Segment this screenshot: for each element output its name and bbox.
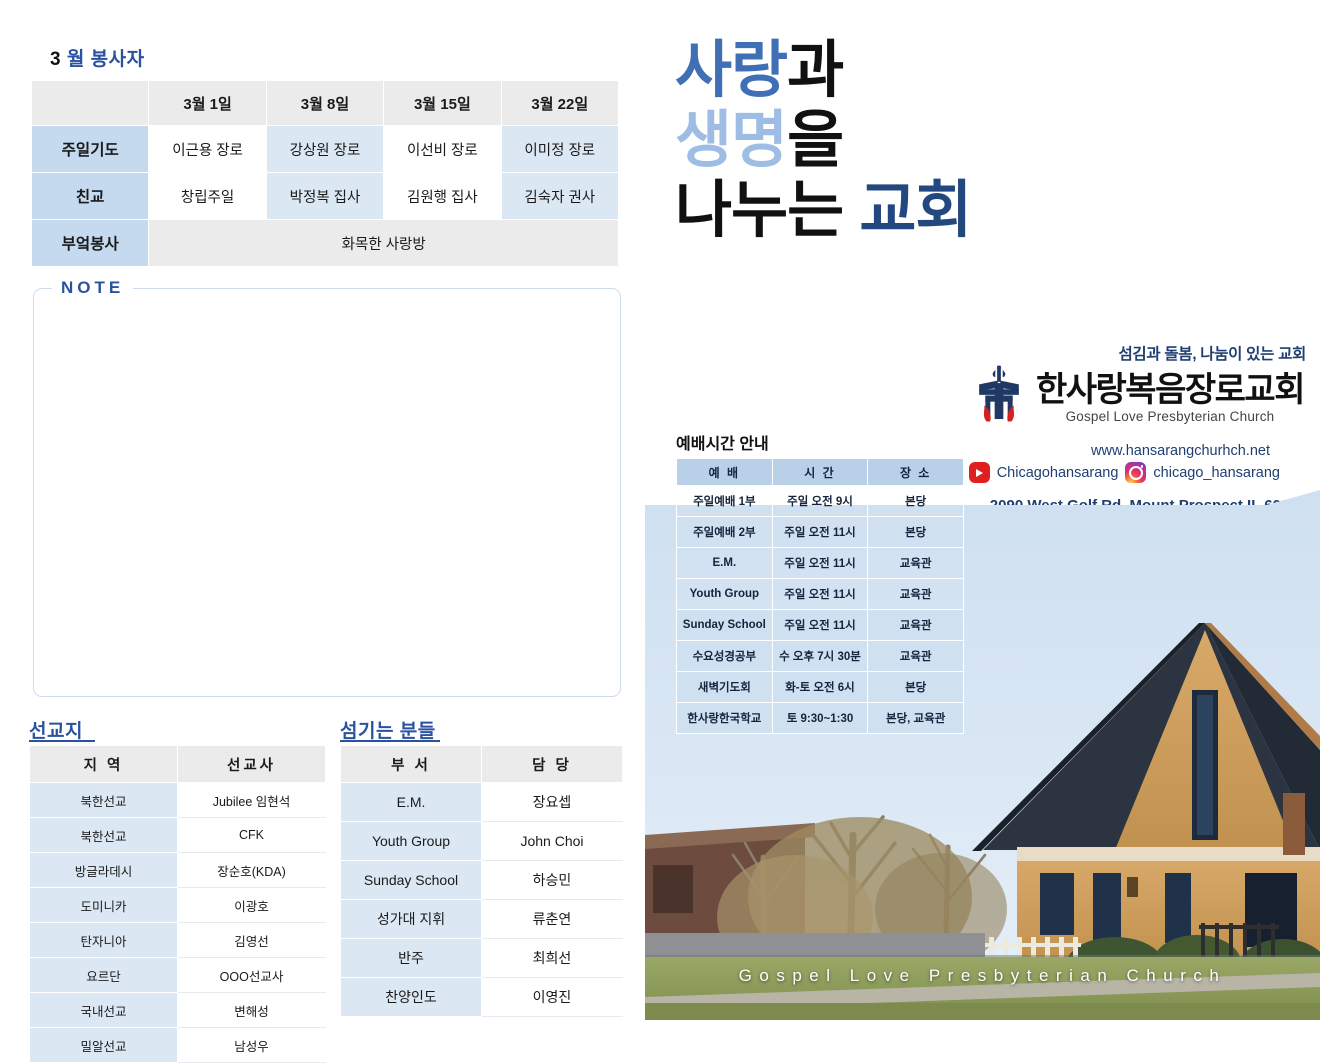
- table-row: 찬양인도이영진: [341, 978, 623, 1017]
- table-row: 반주최희선: [341, 939, 623, 978]
- right-panel: 사랑과 생명을 나누는 교회 섬김과 돌봄, 나눔이 있는 교회: [645, 0, 1320, 1020]
- servers-col-person: 담 당: [482, 746, 623, 783]
- mission-region: 북한선교: [30, 783, 178, 818]
- volunteer-cell: 김원행 집사: [384, 173, 501, 220]
- servers-table: 부 서 담 당 E.M.장요셉 Youth GroupJohn Choi Sun…: [340, 745, 623, 1017]
- mission-missionary: Jubilee 임현석: [178, 783, 326, 818]
- social-links: Chicagohansarang chicago_hansarang: [969, 462, 1280, 483]
- worship-time: 화-토 오전 6시: [772, 672, 868, 703]
- table-row: 방글라데시장순호(KDA): [30, 853, 326, 888]
- slogan-word-share: 나누는: [675, 176, 859, 245]
- table-row: 성가대 지휘류춘연: [341, 900, 623, 939]
- mission-missionary: 남성우: [178, 1028, 326, 1063]
- volunteer-cell: 강상원 장로: [266, 126, 383, 173]
- presbyterian-cross-icon: [968, 362, 1030, 424]
- table-row: 도미니카이광호: [30, 888, 326, 923]
- logo-text-block: 한사랑복음장로교회 Gospel Love Presbyterian Churc…: [1036, 373, 1304, 424]
- slogan-word-love: 사랑: [675, 36, 787, 105]
- servers-person: 류춘연: [482, 900, 623, 939]
- note-box[interactable]: [33, 288, 621, 697]
- mission-missionary: 장순호(KDA): [178, 853, 326, 888]
- volunteer-row-label-prayer: 주일기도: [32, 126, 149, 173]
- mission-region: 국내선교: [30, 993, 178, 1028]
- table-row: 수요성경공부수 오후 7시 30분교육관: [677, 641, 964, 672]
- volunteer-col-1: 3월 1일: [149, 81, 266, 126]
- worship-time: 주일 오전 11시: [772, 610, 868, 641]
- photo-caption: Gospel Love Presbyterian Church: [645, 966, 1320, 986]
- instagram-icon[interactable]: [1125, 462, 1146, 483]
- mission-missionary: 변해성: [178, 993, 326, 1028]
- servers-person: 하승민: [482, 861, 623, 900]
- worship-service: Youth Group: [677, 579, 773, 610]
- volunteer-row-label-kitchen: 부엌봉사: [32, 220, 149, 267]
- worship-place: 본당, 교육관: [868, 703, 964, 734]
- worship-col-place: 장 소: [868, 459, 964, 486]
- volunteer-cell: 박정복 집사: [266, 173, 383, 220]
- slogan-headline: 사랑과 생명을 나누는 교회: [675, 36, 1075, 246]
- mission-col-region: 지 역: [30, 746, 178, 783]
- note-label: NOTE: [52, 278, 133, 298]
- table-row: Youth Group주일 오전 11시교육관: [677, 579, 964, 610]
- table-row: 새벽기도회화-토 오전 6시본당: [677, 672, 964, 703]
- youtube-handle[interactable]: Chicagohansarang: [997, 465, 1119, 481]
- church-name-korean: 한사랑복음장로교회: [1036, 373, 1304, 407]
- mission-section-title: 선교지: [29, 716, 83, 743]
- worship-place: 교육관: [868, 610, 964, 641]
- mission-region: 도미니카: [30, 888, 178, 923]
- mission-title-underline: [29, 740, 95, 742]
- volunteer-col-4: 3월 22일: [501, 81, 618, 126]
- table-row: 주일예배 1부주일 오전 9시본당: [677, 486, 964, 517]
- volunteer-col-2: 3월 8일: [266, 81, 383, 126]
- mission-region: 탄자니아: [30, 923, 178, 958]
- servers-dept: 찬양인도: [341, 978, 482, 1017]
- slogan-particle-1: 과: [787, 36, 843, 105]
- mission-col-missionary: 선교사: [178, 746, 326, 783]
- table-row: 친교 창립주일 박정복 집사 김원행 집사 김숙자 권사: [32, 173, 619, 220]
- worship-service: 한사랑한국학교: [677, 703, 773, 734]
- volunteer-cell: 이근용 장로: [149, 126, 266, 173]
- worship-place: 본당: [868, 672, 964, 703]
- table-row: E.M.장요셉: [341, 783, 623, 822]
- worship-time: 주일 오전 11시: [772, 579, 868, 610]
- table-row: 주일예배 2부주일 오전 11시본당: [677, 517, 964, 548]
- table-row: 북한선교Jubilee 임현석: [30, 783, 326, 818]
- worship-place: 교육관: [868, 579, 964, 610]
- volunteer-cell: 김숙자 권사: [501, 173, 618, 220]
- table-row: Sunday School주일 오전 11시교육관: [677, 610, 964, 641]
- volunteer-table: 3월 1일 3월 8일 3월 15일 3월 22일 주일기도 이근용 장로 강상…: [31, 80, 619, 267]
- volunteer-cell: 창립주일: [149, 173, 266, 220]
- worship-col-time: 시 간: [772, 459, 868, 486]
- table-header-row: 3월 1일 3월 8일 3월 15일 3월 22일: [32, 81, 619, 126]
- table-header-row: 예 배 시 간 장 소: [677, 459, 964, 486]
- church-name-english: Gospel Love Presbyterian Church: [1066, 409, 1275, 424]
- worship-service: 새벽기도회: [677, 672, 773, 703]
- mission-region: 북한선교: [30, 818, 178, 853]
- church-tagline: 섬김과 돌봄, 나눔이 있는 교회: [1118, 342, 1306, 364]
- volunteer-cell: 이미정 장로: [501, 126, 618, 173]
- church-logo: 한사랑복음장로교회 Gospel Love Presbyterian Churc…: [968, 362, 1304, 424]
- servers-person: 최희선: [482, 939, 623, 978]
- worship-col-service: 예 배: [677, 459, 773, 486]
- youtube-icon[interactable]: [969, 462, 990, 483]
- table-row: 밀알선교남성우: [30, 1028, 326, 1063]
- servers-section-title: 섬기는 분들: [340, 716, 436, 743]
- worship-place: 본당: [868, 517, 964, 548]
- table-header-row: 지 역 선교사: [30, 746, 326, 783]
- table-row: 부엌봉사 화목한 사랑방: [32, 220, 619, 267]
- mission-missionary: 김영선: [178, 923, 326, 958]
- worship-time: 수 오후 7시 30분: [772, 641, 868, 672]
- slogan-word-life: 생명: [675, 106, 787, 175]
- worship-time: 토 9:30~1:30: [772, 703, 868, 734]
- table-row: 국내선교변해성: [30, 993, 326, 1028]
- volunteer-section-title: 3 월 봉사자: [50, 44, 145, 71]
- volunteer-title-text: 월 봉사자: [67, 49, 145, 70]
- volunteer-col-0: [32, 81, 149, 126]
- worship-service: 주일예배 1부: [677, 486, 773, 517]
- mission-field-table: 지 역 선교사 북한선교Jubilee 임현석 북한선교CFK 방글라데시장순호…: [29, 745, 326, 1063]
- worship-time: 주일 오전 9시: [772, 486, 868, 517]
- slogan-particle-2: 을: [787, 106, 843, 175]
- worship-service: E.M.: [677, 548, 773, 579]
- servers-dept: Sunday School: [341, 861, 482, 900]
- table-row: 한사랑한국학교토 9:30~1:30본당, 교육관: [677, 703, 964, 734]
- mission-region: 방글라데시: [30, 853, 178, 888]
- volunteer-row-label-fellowship: 친교: [32, 173, 149, 220]
- table-row: 요르단OOO선교사: [30, 958, 326, 993]
- worship-service: 주일예배 2부: [677, 517, 773, 548]
- table-row: 북한선교CFK: [30, 818, 326, 853]
- servers-person: 이영진: [482, 978, 623, 1017]
- servers-dept: E.M.: [341, 783, 482, 822]
- volunteer-col-3: 3월 15일: [384, 81, 501, 126]
- worship-time: 주일 오전 11시: [772, 548, 868, 579]
- table-row: E.M.주일 오전 11시교육관: [677, 548, 964, 579]
- worship-place: 본당: [868, 486, 964, 517]
- servers-col-dept: 부 서: [341, 746, 482, 783]
- servers-title-underline: [340, 740, 440, 742]
- table-row: Sunday School하승민: [341, 861, 623, 900]
- worship-schedule-table: 예 배 시 간 장 소 주일예배 1부주일 오전 9시본당 주일예배 2부주일 …: [676, 458, 964, 734]
- mission-missionary: 이광호: [178, 888, 326, 923]
- servers-dept: 반주: [341, 939, 482, 978]
- mission-missionary: CFK: [178, 818, 326, 853]
- volunteer-kitchen-value: 화목한 사랑방: [149, 220, 619, 267]
- mission-missionary: OOO선교사: [178, 958, 326, 993]
- volunteer-title-month: 3: [50, 49, 61, 70]
- worship-time: 주일 오전 11시: [772, 517, 868, 548]
- worship-place: 교육관: [868, 548, 964, 579]
- slogan-word-church: 교회: [859, 176, 971, 245]
- worship-service: Sunday School: [677, 610, 773, 641]
- left-panel: 3 월 봉사자 3월 1일 3월 8일 3월 15일 3월 22일 주일기도 이…: [0, 0, 645, 1020]
- table-row: Youth GroupJohn Choi: [341, 822, 623, 861]
- servers-dept: 성가대 지휘: [341, 900, 482, 939]
- mission-region: 밀알선교: [30, 1028, 178, 1063]
- bulletin-page: 3 월 봉사자 3월 1일 3월 8일 3월 15일 3월 22일 주일기도 이…: [0, 0, 1320, 1020]
- table-row: 주일기도 이근용 장로 강상원 장로 이선비 장로 이미정 장로: [32, 126, 619, 173]
- website-url[interactable]: www.hansarangchurhch.net: [1091, 443, 1270, 459]
- servers-person: 장요셉: [482, 783, 623, 822]
- volunteer-cell: 이선비 장로: [384, 126, 501, 173]
- worship-service: 수요성경공부: [677, 641, 773, 672]
- instagram-handle[interactable]: chicago_hansarang: [1153, 465, 1280, 481]
- worship-schedule-title: 예배시간 안내: [676, 430, 769, 454]
- servers-person: John Choi: [482, 822, 623, 861]
- table-row: 탄자니아김영선: [30, 923, 326, 958]
- table-header-row: 부 서 담 당: [341, 746, 623, 783]
- servers-dept: Youth Group: [341, 822, 482, 861]
- mission-region: 요르단: [30, 958, 178, 993]
- worship-place: 교육관: [868, 641, 964, 672]
